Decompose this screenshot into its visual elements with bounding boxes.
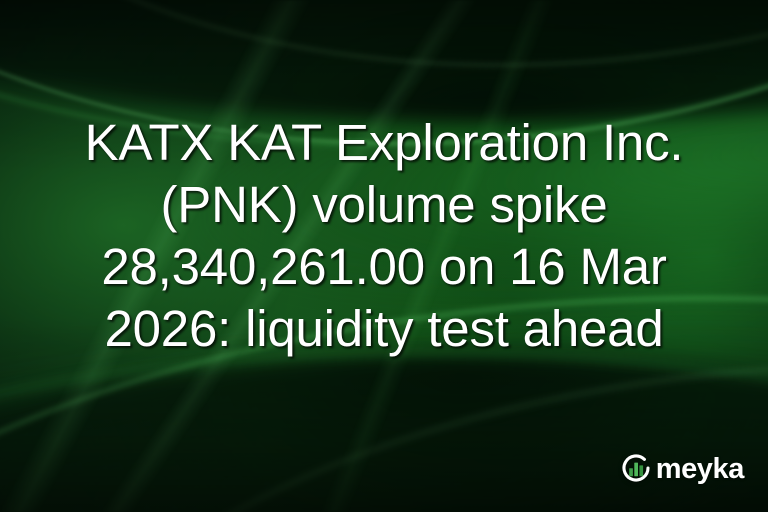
meyka-circle-bars-icon xyxy=(619,452,653,486)
meyka-wordmark: meyka xyxy=(656,455,744,484)
headline-text: KATX KAT Exploration Inc. (PNK) volume s… xyxy=(0,112,768,360)
meyka-logo[interactable]: meyka xyxy=(619,450,744,488)
social-news-card: KATX KAT Exploration Inc. (PNK) volume s… xyxy=(0,0,768,512)
background-shadow-band-top xyxy=(0,0,768,122)
background-shadow-band-bottom xyxy=(0,352,768,512)
background-arc-top-3 xyxy=(0,0,768,110)
